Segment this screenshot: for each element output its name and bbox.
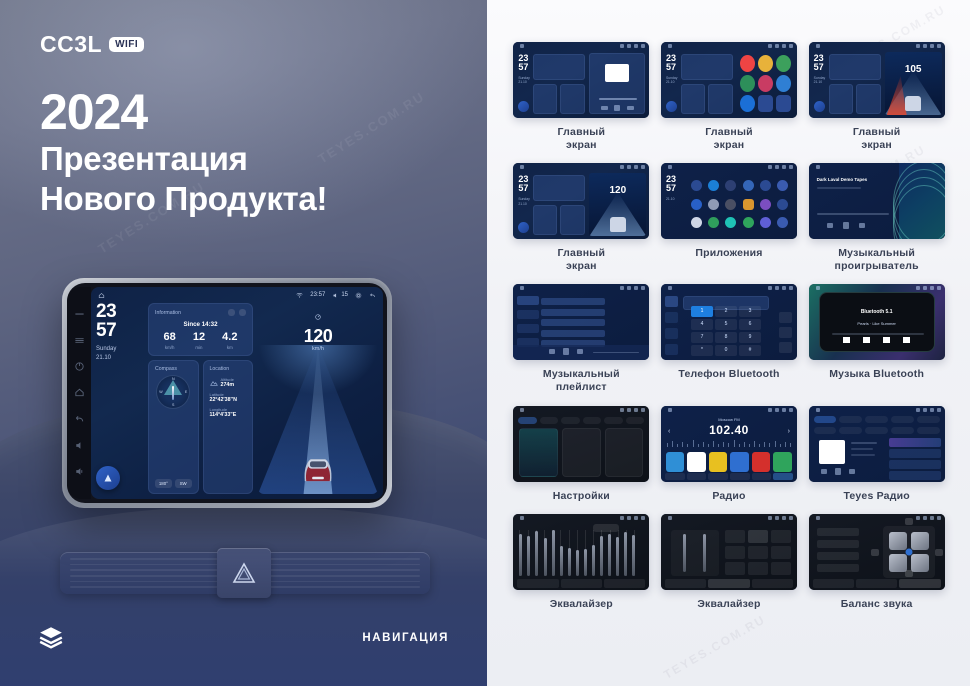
gallery-item[interactable]: 123 456 789 *0# Телефон Bluetooth bbox=[661, 284, 798, 393]
hero-panel: TEYES.COM.RU TEYES.COM.RU TEYES.COM.RU C… bbox=[0, 0, 487, 686]
gallery-caption: Главныйэкран bbox=[705, 126, 753, 151]
gallery-caption: Приложения bbox=[695, 247, 762, 260]
settings-tabs[interactable] bbox=[518, 417, 644, 424]
thumb-home-music[interactable]: 2357 Sunday21.10 bbox=[513, 42, 649, 118]
gear-icon[interactable] bbox=[355, 292, 362, 299]
thumb-teyes-radio[interactable] bbox=[809, 406, 945, 482]
status-bar: 23:57 15 bbox=[91, 287, 383, 303]
player-visualizer bbox=[899, 163, 945, 239]
trip-stat-value: 4.2 bbox=[222, 332, 237, 343]
compass-title: Compass bbox=[155, 366, 177, 372]
trip-stat-unit: km/h bbox=[164, 345, 176, 350]
head-unit-side-keys[interactable] bbox=[67, 287, 91, 499]
gallery-item[interactable]: 2357 21.10 bbox=[661, 163, 798, 272]
thumb-equalizer-simple[interactable] bbox=[661, 514, 797, 590]
car-3d-model bbox=[296, 444, 340, 486]
compass-heading: 180° bbox=[155, 479, 172, 488]
radio-dial-scale bbox=[667, 440, 791, 447]
hazard-button[interactable] bbox=[217, 548, 271, 598]
gallery-item[interactable]: Bluetooth 5.1 Pearls · Like Summer Музык… bbox=[808, 284, 945, 393]
status-time: 23:57 bbox=[310, 292, 325, 298]
drive-speed: 120 bbox=[258, 327, 378, 345]
watermark: TEYES.COM.RU bbox=[661, 612, 768, 682]
mute-key-icon[interactable] bbox=[74, 309, 85, 320]
trip-since: Since 14:32 bbox=[155, 321, 246, 328]
speed-icon bbox=[314, 313, 322, 321]
vol-down-key-icon[interactable] bbox=[74, 440, 85, 451]
compass-mark-s: S bbox=[172, 403, 174, 407]
wifi-icon bbox=[296, 292, 303, 299]
gallery-caption: Музыкальныйпроигрыватель bbox=[835, 247, 919, 272]
gallery-caption: Эквалайзер bbox=[550, 598, 613, 611]
clock-column: 23 57 Sunday 21.10 bbox=[96, 303, 143, 494]
hero-year: 2024 bbox=[40, 86, 327, 139]
compass-mark-e: E bbox=[185, 390, 187, 394]
thumb-speed: 105 bbox=[885, 64, 942, 75]
gallery-item[interactable]: Музыкальныйплейлист bbox=[513, 284, 650, 393]
trip-stat-value: 12 bbox=[193, 332, 205, 343]
gallery-item[interactable]: 2357 Sunday21.10 105 Главныйэкран bbox=[808, 42, 945, 151]
gallery-item[interactable]: 2357 Sunday21.10 Главныйэкран bbox=[661, 42, 798, 151]
mountain-icon bbox=[210, 379, 218, 387]
hazard-triangle-icon bbox=[231, 561, 257, 585]
trip-stat-unit: km bbox=[222, 345, 237, 350]
compass-needle bbox=[172, 386, 174, 400]
drive-view-panel[interactable]: 120 km/h bbox=[258, 303, 378, 494]
hero-title-line1: Презентация bbox=[40, 139, 327, 179]
vol-up-key-icon[interactable] bbox=[74, 466, 85, 477]
radio-band: Moscow FM bbox=[661, 417, 797, 422]
bt-track: Pearls · Like Summer bbox=[820, 321, 934, 326]
information-title: Information bbox=[155, 310, 181, 316]
bt-music-panel: Bluetooth 5.1 Pearls · Like Summer bbox=[819, 292, 935, 352]
radio-prev-icon[interactable]: ‹ bbox=[668, 428, 670, 435]
clock-minutes: 57 bbox=[96, 322, 143, 341]
power-key-icon[interactable] bbox=[74, 361, 85, 372]
clock-day: Sunday bbox=[96, 345, 143, 353]
gallery-item[interactable]: Dark Laval Demo Tapes Музыкальныйпроигры… bbox=[808, 163, 945, 272]
eq-key-icon[interactable] bbox=[74, 335, 85, 346]
gallery-caption: Главныйэкран bbox=[558, 126, 606, 151]
thumb-settings[interactable] bbox=[513, 406, 649, 482]
gallery-caption: Teyes Радио bbox=[843, 490, 909, 503]
product-logo: CC3L WIFI bbox=[40, 33, 144, 56]
layers-icon[interactable] bbox=[38, 624, 64, 650]
thumb-home-drive[interactable]: 2357 Sunday21.10 105 bbox=[809, 42, 945, 118]
gallery-item[interactable]: Баланс звука bbox=[808, 514, 945, 611]
gallery-item[interactable]: Эквалайзер bbox=[513, 514, 650, 611]
thumb-speed: 120 bbox=[589, 185, 646, 196]
gallery-item[interactable]: Teyes Радио bbox=[808, 406, 945, 503]
compass-direction: SW bbox=[175, 479, 192, 488]
assistant-button[interactable] bbox=[96, 466, 120, 490]
thumb-clock: 2357 bbox=[518, 54, 528, 71]
assistant-icon bbox=[102, 472, 114, 484]
gallery-item[interactable]: Эквалайзер bbox=[661, 514, 798, 611]
gallery-item[interactable]: Moscow FM 102.40 ‹ › bbox=[661, 406, 798, 503]
home-key-icon[interactable] bbox=[74, 387, 85, 398]
gallery-caption: Музыка Bluetooth bbox=[829, 368, 924, 381]
navigation-label: НАВИГАЦИЯ bbox=[362, 632, 449, 644]
gallery-caption: Баланс звука bbox=[841, 598, 913, 611]
gallery-caption: Телефон Bluetooth bbox=[678, 368, 779, 381]
thumb-apps[interactable]: 2357 21.10 bbox=[661, 163, 797, 239]
player-track-title: Dark Laval Demo Tapes bbox=[817, 177, 867, 182]
app-grid[interactable] bbox=[687, 175, 792, 233]
compass-mark-w: W bbox=[159, 390, 162, 394]
information-actions[interactable] bbox=[228, 309, 246, 316]
head-unit[interactable]: 23:57 15 23 57 bbox=[62, 278, 392, 508]
thumb-home-apps[interactable]: 2357 Sunday21.10 bbox=[661, 42, 797, 118]
gallery-caption: Радио bbox=[712, 490, 745, 503]
location-title: Location bbox=[210, 366, 230, 372]
status-volume: 15 bbox=[341, 292, 348, 298]
drive-speed-unit: km/h bbox=[258, 346, 378, 352]
thumb-music-player[interactable]: Dark Laval Demo Tapes bbox=[809, 163, 945, 239]
thumb-music-playlist[interactable] bbox=[513, 284, 649, 360]
eq-footer-tabs[interactable] bbox=[517, 579, 645, 588]
information-card[interactable]: Information Since 14:32 68 km/h bbox=[148, 303, 253, 356]
gallery-caption: Музыкальныйплейлист bbox=[543, 368, 620, 393]
back-key-icon[interactable] bbox=[74, 414, 85, 425]
hero-headline: 2024 Презентация Нового Продукта! bbox=[40, 86, 327, 219]
gallery-caption: Главныйэкран bbox=[853, 126, 901, 151]
playlist-rows[interactable] bbox=[541, 298, 605, 347]
trip-stat-value: 68 bbox=[164, 332, 176, 343]
gallery-caption: Главныйэкран bbox=[558, 247, 606, 272]
thumb-bluetooth-phone[interactable]: 123 456 789 *0# bbox=[661, 284, 797, 360]
radio-presets[interactable] bbox=[666, 452, 792, 472]
bt-badge: Bluetooth 5.1 bbox=[820, 309, 934, 315]
clock-hours: 23 bbox=[96, 303, 143, 322]
thumb-status-bar bbox=[513, 42, 649, 50]
home-icon[interactable] bbox=[98, 292, 105, 299]
watermark: TEYES.COM.RU bbox=[315, 89, 427, 167]
car-dashboard-photo: 23:57 15 23 57 bbox=[0, 266, 487, 686]
thumb-radio[interactable]: Moscow FM 102.40 ‹ › bbox=[661, 406, 797, 482]
compass-dial: N E S W bbox=[156, 375, 190, 409]
radio-next-icon[interactable]: › bbox=[788, 428, 790, 435]
thumb-home-nav[interactable]: 2357 Sunday21.10 120 bbox=[513, 163, 649, 239]
balance-presets[interactable] bbox=[817, 528, 859, 572]
trip-stat-unit: min bbox=[193, 345, 205, 350]
screens-gallery-panel: TEYES.COM.RU TEYES.COM.RU TEYES.COM.RU 2… bbox=[487, 0, 970, 686]
latitude-value: 22°42'38"N bbox=[210, 397, 247, 403]
screens-grid: 2357 Sunday21.10 Главныйэкран 2357 bbox=[513, 42, 945, 611]
compass-mark-n: N bbox=[172, 377, 175, 381]
volume-icon bbox=[332, 292, 339, 299]
radio-frequency: 102.40 bbox=[661, 423, 797, 437]
longitude-value: 114°4'33"E bbox=[210, 412, 247, 418]
gallery-item[interactable]: Настройки bbox=[513, 406, 650, 503]
settings-cards[interactable] bbox=[519, 428, 643, 477]
location-card[interactable]: Location Altitude 274m bbox=[203, 360, 254, 494]
gallery-caption: Эквалайзер bbox=[697, 598, 760, 611]
thumb-equalizer-bars[interactable] bbox=[513, 514, 649, 590]
altitude-value: 274m bbox=[221, 382, 235, 388]
compass-card[interactable]: Compass N E S W bbox=[148, 360, 199, 494]
thumb-date: Sunday21.10 bbox=[518, 76, 530, 85]
hero-title-line2: Нового Продукта! bbox=[40, 179, 327, 219]
gallery-item[interactable]: 2357 Sunday21.10 Главныйэкран bbox=[513, 42, 650, 151]
thumb-sound-balance[interactable] bbox=[809, 514, 945, 590]
phone-dialpad[interactable]: 123 456 789 *0# bbox=[691, 306, 761, 356]
clock-date: 21.10 bbox=[96, 354, 143, 362]
back-icon[interactable] bbox=[369, 292, 376, 299]
gallery-item[interactable]: 2357 Sunday21.10 120 Главныйэкран bbox=[513, 163, 650, 272]
thumb-bluetooth-music[interactable]: Bluetooth 5.1 Pearls · Like Summer bbox=[809, 284, 945, 360]
logo-model: CC3L bbox=[40, 33, 102, 56]
eq-sliders[interactable] bbox=[519, 530, 635, 576]
gallery-caption: Настройки bbox=[553, 490, 610, 503]
trip-stats: 68 km/h 12 min 4.2 km bbox=[155, 332, 246, 350]
head-unit-screen[interactable]: 23:57 15 23 57 bbox=[91, 287, 383, 499]
logo-wifi-badge: WIFI bbox=[109, 37, 144, 52]
